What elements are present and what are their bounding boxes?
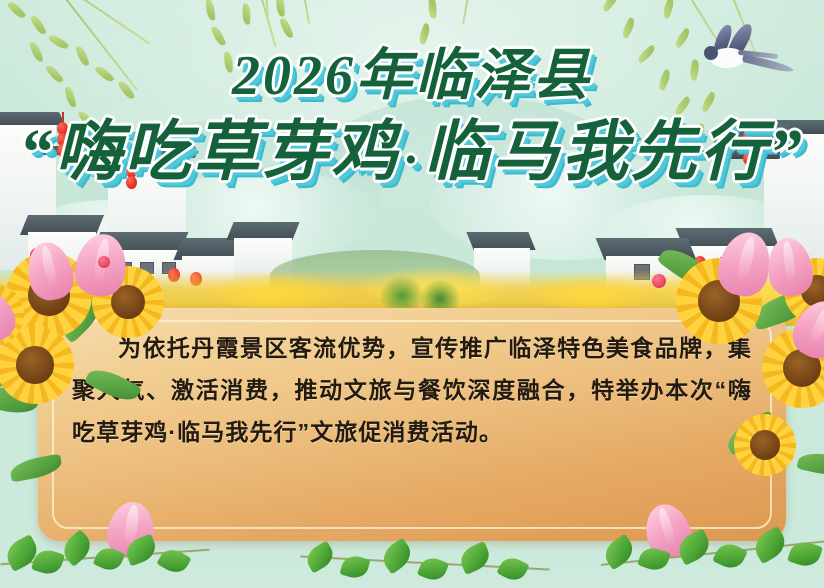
red-berry [652, 274, 666, 288]
swallow-bird [698, 22, 794, 84]
green-vine-leaves [0, 534, 824, 588]
red-berry [98, 256, 110, 268]
sunflower [734, 414, 796, 476]
poster-canvas: 2026年临泽县 “嗨吃草芽鸡·临马我先行” [0, 0, 824, 588]
flower-cluster-right [638, 244, 824, 574]
flower-cluster-left [0, 248, 200, 578]
